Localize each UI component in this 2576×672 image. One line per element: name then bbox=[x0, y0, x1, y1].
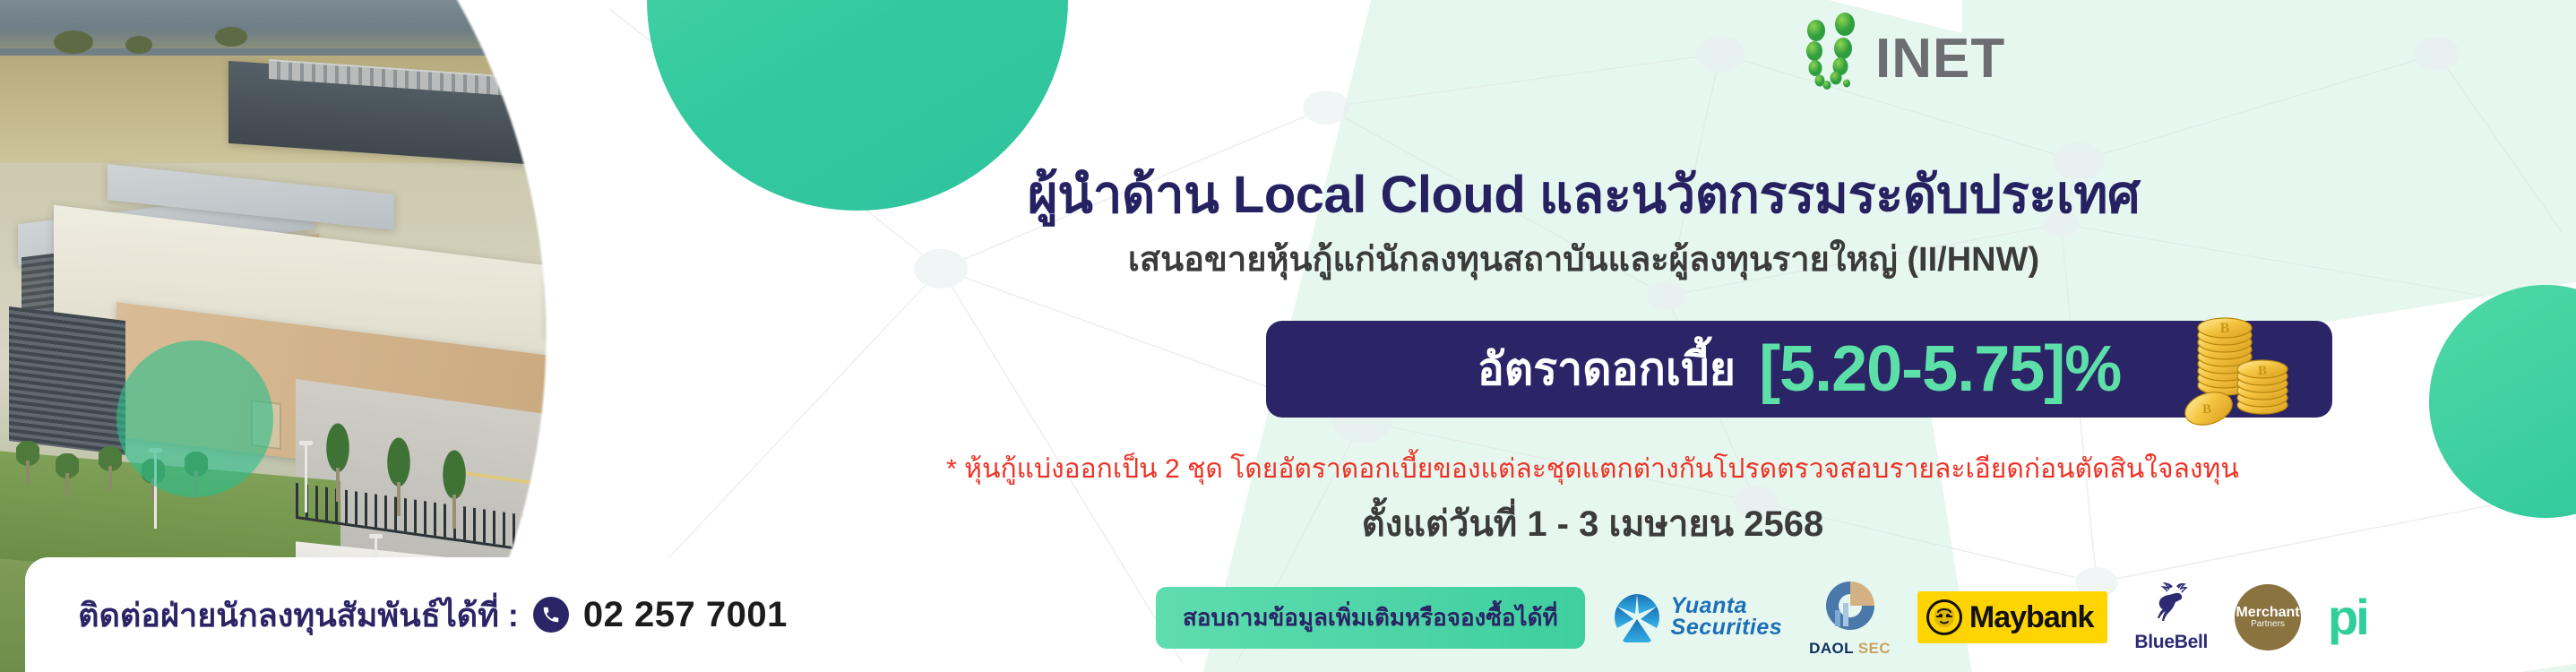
maybank-tiger-icon bbox=[1926, 599, 1962, 635]
bluebell-wordmark: BlueBell bbox=[2134, 632, 2208, 653]
offer-date: ตั้งแต่วันที่ 1 - 3 เมษายน 2568 bbox=[0, 495, 2576, 552]
cta-partner-row: สอบถามข้อมูลเพิ่มเติมหรือจองซื้อได้ที่ Y… bbox=[1156, 582, 2367, 652]
partner-logo-yuanta[interactable]: Yuanta Securities bbox=[1612, 582, 1783, 652]
page-subtitle: เสนอขายหุ้นกู้แก่นักลงทุนสถาบันและผู้ลงท… bbox=[0, 231, 2576, 286]
page-title: ผู้นำด้าน Local Cloud และนวัตกรรมระดับปร… bbox=[0, 152, 2576, 236]
partner-logo-daol[interactable]: DAOL SEC bbox=[1809, 582, 1891, 652]
promo-banner: INET ผู้นำด้าน Local Cloud และนวัตกรรมระ… bbox=[0, 0, 2576, 672]
daol-pie-icon bbox=[1822, 578, 1878, 633]
yuanta-line2: Securities bbox=[1671, 617, 1783, 639]
svg-text:B: B bbox=[2202, 402, 2211, 417]
merchant-line2: Partners bbox=[2251, 620, 2285, 629]
interest-rate-badge: อัตราดอกเบี้ย [5.20-5.75]% bbox=[1266, 321, 2332, 418]
contact-phone-number: 02 257 7001 bbox=[583, 595, 788, 635]
contact-label: ติดต่อฝ่ายนักลงทุนสัมพันธ์ได้ที่ : bbox=[78, 590, 519, 641]
rate-value: [5.20-5.75]% bbox=[1759, 332, 2121, 406]
svg-text:B: B bbox=[2220, 321, 2230, 336]
inet-logo: INET bbox=[1770, 13, 2065, 90]
partner-logo-bluebell[interactable]: BlueBell bbox=[2134, 582, 2208, 652]
merchant-circle-icon: Merchant Partners bbox=[2235, 584, 2301, 650]
contact-panel: ติดต่อฝ่ายนักลงทุนสัมพันธ์ได้ที่ : 02 25… bbox=[25, 557, 840, 672]
svg-text:B: B bbox=[2258, 364, 2267, 378]
partner-logo-maybank[interactable]: Maybank bbox=[1917, 582, 2108, 652]
partner-logo-merchant[interactable]: Merchant Partners bbox=[2235, 582, 2301, 652]
phone-icon bbox=[533, 597, 569, 633]
pi-wordmark: pi bbox=[2328, 598, 2367, 638]
bluebell-deer-icon bbox=[2146, 582, 2196, 627]
merchant-line1: Merchant bbox=[2236, 606, 2299, 620]
inet-wordmark: INET bbox=[1875, 27, 2005, 90]
disclaimer-note: * หุ้นกู้แบ่งออกเป็น 2 ชุด โดยอัตราดอกเบ… bbox=[0, 448, 2576, 490]
partner-logo-pi[interactable]: pi bbox=[2328, 582, 2367, 652]
inet-dots-logo-icon bbox=[1770, 13, 1877, 90]
daol-line1: DAOL bbox=[1809, 640, 1853, 657]
rate-label: อัตราดอกเบี้ย bbox=[1478, 334, 1736, 405]
gold-coins-icon: B B B bbox=[2173, 296, 2307, 430]
maybank-wordmark: Maybank bbox=[1969, 600, 2094, 635]
daol-line2: SEC bbox=[1858, 640, 1891, 657]
yuanta-circle-icon bbox=[1612, 592, 1662, 642]
inquire-button[interactable]: สอบถามข้อมูลเพิ่มเติมหรือจองซื้อได้ที่ bbox=[1156, 587, 1585, 649]
